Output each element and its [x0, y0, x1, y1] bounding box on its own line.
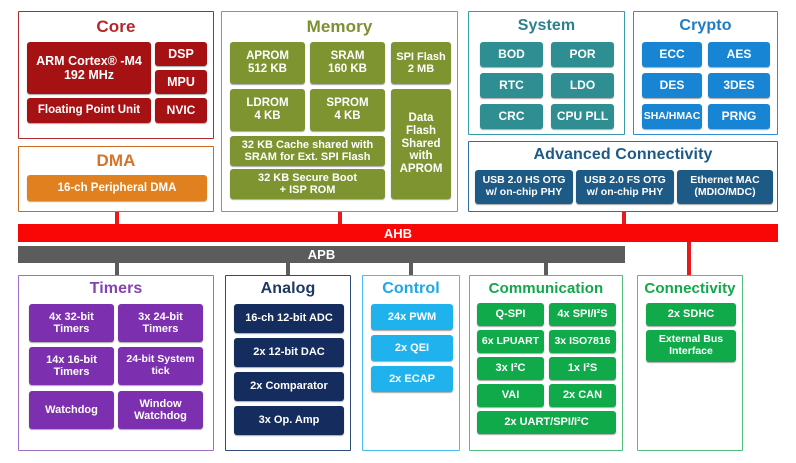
block-window-watchdog: Window Watchdog — [118, 391, 203, 429]
block-des: DES — [642, 73, 702, 98]
block-por: POR — [551, 42, 614, 67]
block-ecap: 2x ECAP — [371, 366, 453, 392]
block-spi-flash: SPI Flash 2 MB — [391, 42, 451, 84]
block-4x-32bit-timers: 4x 32-bit Timers — [29, 304, 114, 342]
block-rtc: RTC — [480, 73, 543, 98]
block-mpu: MPU — [155, 70, 207, 94]
block-iso7816: 3x ISO7816 — [549, 330, 616, 353]
panel-title-crypto: Crypto — [634, 18, 777, 34]
block-ecc: ECC — [642, 42, 702, 67]
panel-title-advanced-connectivity: Advanced Connectivity — [469, 147, 777, 163]
block-usb-fs-otg: USB 2.0 FS OTG w/ on-chip PHY — [576, 170, 674, 204]
block-op-amp: 3x Op. Amp — [234, 406, 344, 435]
block-cache-shared-sram: 32 KB Cache shared with SRAM for Ext. SP… — [230, 136, 385, 166]
block-prng: PRNG — [708, 104, 770, 129]
block-qspi: Q-SPI — [477, 303, 544, 326]
block-dsp: DSP — [155, 42, 207, 66]
block-ethernet-mac: Ethernet MAC (MDIO/MDC) — [677, 170, 773, 204]
block-adc: 16-ch 12-bit ADC — [234, 304, 344, 333]
block-lpuart: 6x LPUART — [477, 330, 544, 353]
block-usb-hs-otg: USB 2.0 HS OTG w/ on-chip PHY — [475, 170, 573, 204]
block-3x-24bit-timers: 3x 24-bit Timers — [118, 304, 203, 342]
connector-dma-to-ahb — [115, 212, 119, 224]
block-i2c: 3x I²C — [477, 357, 544, 380]
block-cpu-pll: CPU PLL — [551, 104, 614, 129]
block-data-flash-shared: Data Flash Shared with APROM — [391, 89, 451, 199]
block-aes: AES — [708, 42, 770, 67]
block-crc: CRC — [480, 104, 543, 129]
block-diagram-canvas: Core ARM Cortex® -M4 192 MHz DSP MPU Flo… — [0, 0, 796, 463]
block-floating-point-unit: Floating Point Unit — [27, 98, 151, 123]
panel-memory: Memory APROM 512 KB SRAM 160 KB SPI Flas… — [221, 11, 458, 212]
block-pwm: 24x PWM — [371, 304, 453, 330]
block-dac: 2x 12-bit DAC — [234, 338, 344, 367]
block-sha-hmac: SHA/HMAC — [642, 104, 702, 129]
block-ldo: LDO — [551, 73, 614, 98]
block-spi-i2s: 4x SPI/I²S — [549, 303, 616, 326]
panel-analog: Analog 16-ch 12-bit ADC 2x 12-bit DAC 2x… — [225, 275, 351, 451]
block-aprom: APROM 512 KB — [230, 42, 305, 84]
block-3des: 3DES — [708, 73, 770, 98]
panel-core: Core ARM Cortex® -M4 192 MHz DSP MPU Flo… — [18, 11, 214, 139]
panel-title-connectivity: Connectivity — [638, 281, 742, 296]
block-sram: SRAM 160 KB — [310, 42, 385, 84]
panel-control: Control 24x PWM 2x QEI 2x ECAP — [362, 275, 460, 451]
block-uart-spi-i2c: 2x UART/SPI/I²C — [477, 411, 616, 434]
panel-title-communication: Communication — [470, 281, 622, 296]
panel-connectivity: Connectivity 2x SDHC External Bus Interf… — [637, 275, 743, 451]
block-peripheral-dma: 16-ch Peripheral DMA — [27, 175, 207, 201]
panel-title-control: Control — [363, 281, 459, 297]
block-14x-16bit-timers: 14x 16-bit Timers — [29, 347, 114, 385]
connector-memory-to-ahb — [338, 212, 342, 224]
block-can: 2x CAN — [549, 384, 616, 407]
block-sdhc: 2x SDHC — [646, 303, 736, 326]
block-arm-cortex-m4: ARM Cortex® -M4 192 MHz — [27, 42, 151, 94]
block-ldrom: LDROM 4 KB — [230, 89, 305, 131]
panel-dma: DMA 16-ch Peripheral DMA — [18, 146, 214, 212]
block-24bit-systick: 24-bit System tick — [118, 347, 203, 385]
connector-ahb-to-connectivity — [687, 242, 691, 275]
block-watchdog: Watchdog — [29, 391, 114, 429]
panel-system: System BOD POR RTC LDO CRC CPU PLL — [468, 11, 625, 135]
connector-apb-to-control — [409, 263, 413, 275]
block-external-bus-interface: External Bus Interface — [646, 330, 736, 362]
block-qei: 2x QEI — [371, 335, 453, 361]
panel-title-analog: Analog — [226, 281, 350, 297]
panel-title-system: System — [469, 18, 624, 34]
panel-title-timers: Timers — [19, 281, 213, 297]
panel-title-core: Core — [19, 18, 213, 35]
bus-ahb: AHB — [18, 224, 778, 242]
block-i2s: 1x I²S — [549, 357, 616, 380]
panel-title-dma: DMA — [19, 152, 213, 169]
connector-advanced-connectivity-to-ahb — [622, 212, 626, 224]
connector-apb-to-analog — [286, 263, 290, 275]
block-bod: BOD — [480, 42, 543, 67]
block-comparator: 2x Comparator — [234, 372, 344, 401]
panel-communication: Communication Q-SPI 4x SPI/I²S 6x LPUART… — [469, 275, 623, 451]
connector-apb-to-timers — [115, 263, 119, 275]
panel-title-memory: Memory — [222, 18, 457, 35]
block-nvic: NVIC — [155, 98, 207, 123]
panel-timers: Timers 4x 32-bit Timers 3x 24-bit Timers… — [18, 275, 214, 451]
panel-crypto: Crypto ECC AES DES 3DES SHA/HMAC PRNG — [633, 11, 778, 135]
panel-advanced-connectivity: Advanced Connectivity USB 2.0 HS OTG w/ … — [468, 141, 778, 212]
bus-apb: APB — [18, 246, 625, 263]
block-vai: VAI — [477, 384, 544, 407]
block-sprom: SPROM 4 KB — [310, 89, 385, 131]
connector-apb-to-communication — [544, 263, 548, 275]
block-secure-boot-isp-rom: 32 KB Secure Boot + ISP ROM — [230, 169, 385, 199]
